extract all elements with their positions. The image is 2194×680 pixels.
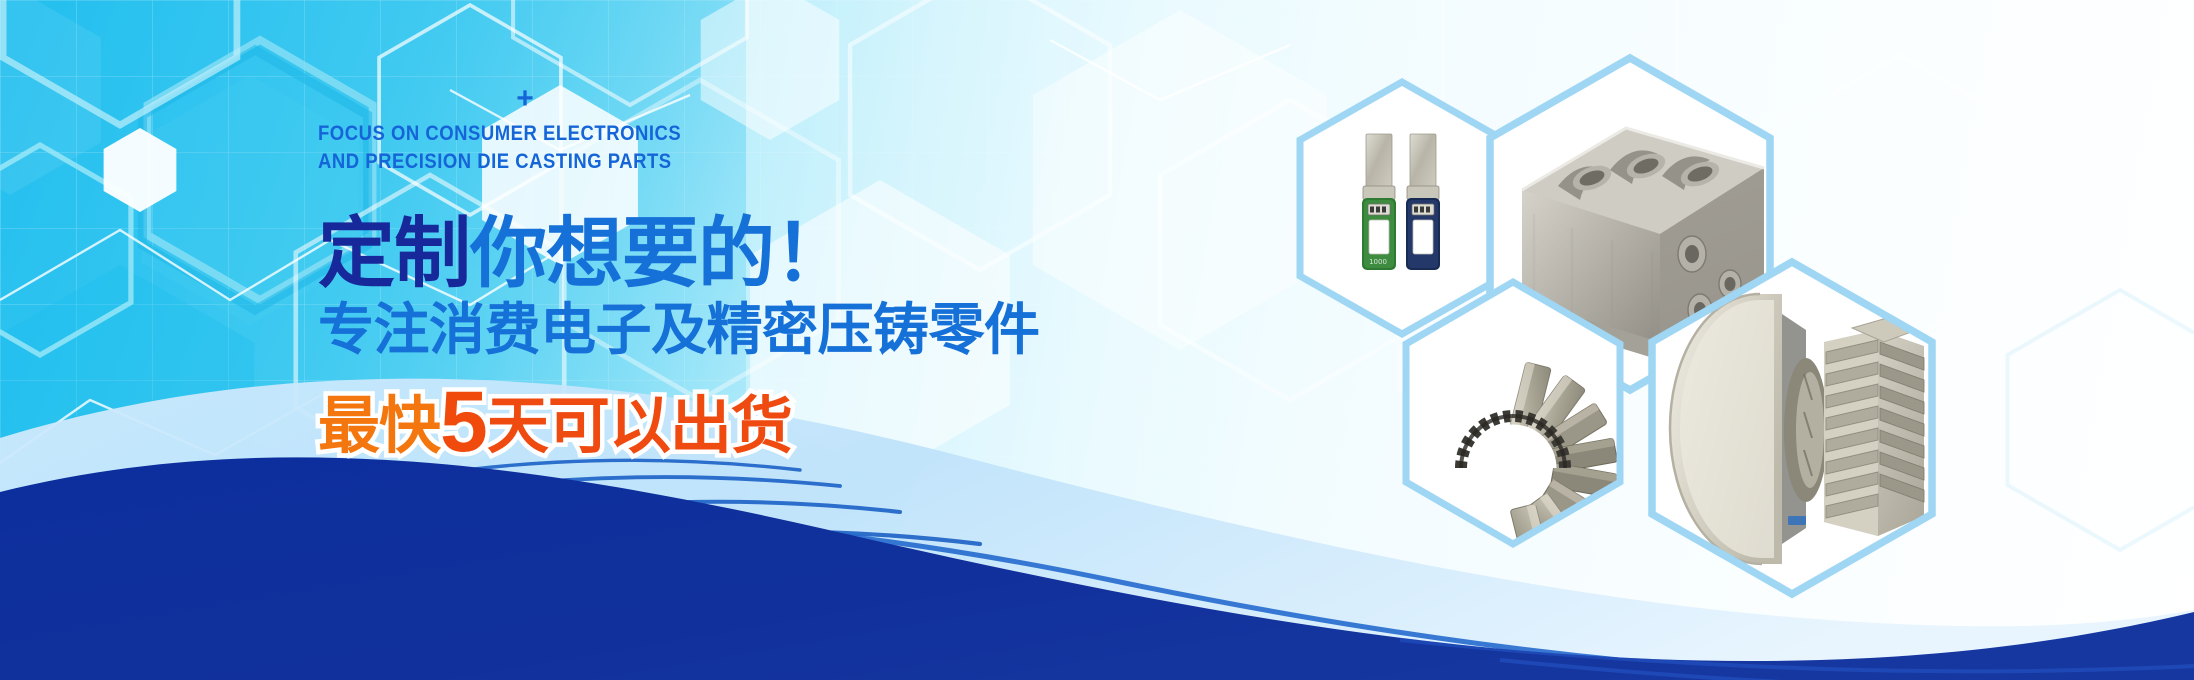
english-tagline-text: FOCUS ON CONSUMER ELECTRONICS AND PRECIS… [318,121,681,173]
promo-number: 5 [440,374,487,470]
product-hex-motor-housing-assembly[interactable] [1632,252,1952,604]
promo-line: 最快5天可以出货 [318,377,1298,467]
svg-text:1000: 1000 [1369,258,1387,266]
headline-part-2: 你想要的！ [470,210,850,299]
promo-banner: FOCUS ON CONSUMER ELECTRONICS AND PRECIS… [0,0,2194,680]
subheadline: 专注消费电子及精密压铸零件 [318,303,1298,359]
promo-suffix: 天可以出货 [487,389,792,462]
promo-prefix: 最快 [318,389,440,462]
headline-copy-block: FOCUS ON CONSUMER ELECTRONICS AND PRECIS… [318,92,1298,467]
plus-icon: + [516,79,534,118]
english-tagline: FOCUS ON CONSUMER ELECTRONICS AND PRECIS… [318,92,1161,204]
page-title: 定制你想要的！ [318,216,1298,293]
product-hex-stator-core-segments[interactable] [1388,272,1638,554]
headline-part-1: 定制 [318,210,470,299]
